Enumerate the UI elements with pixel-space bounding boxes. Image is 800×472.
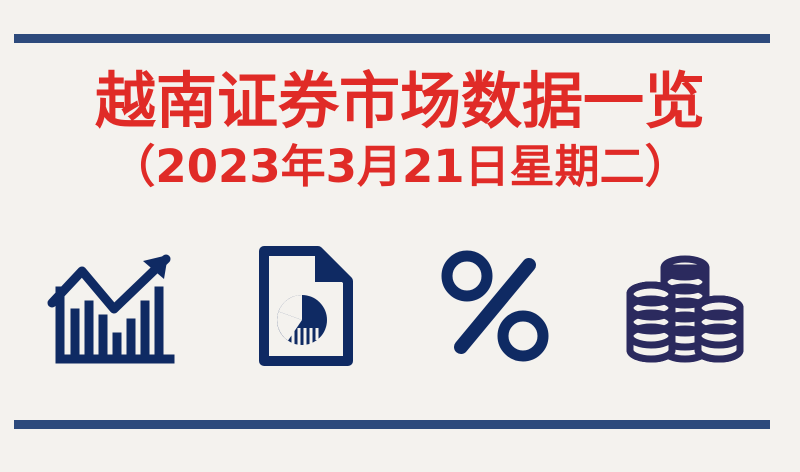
growth-chart-icon <box>40 243 190 368</box>
top-divider-rule <box>14 34 770 43</box>
headline-block: 越南证券市场数据一览 （2023年3月21日星期二） <box>0 66 800 196</box>
bottom-divider-rule <box>14 420 770 429</box>
report-document-icon <box>230 243 380 368</box>
poster-root: 越南证券市场数据一览 （2023年3月21日星期二） <box>0 0 800 472</box>
coin-stacks-icon <box>610 243 760 368</box>
page-subtitle-date: （2023年3月21日星期二） <box>0 138 800 196</box>
page-title: 越南证券市场数据一览 <box>0 66 800 138</box>
percent-icon <box>420 243 570 368</box>
icon-row <box>40 243 760 368</box>
